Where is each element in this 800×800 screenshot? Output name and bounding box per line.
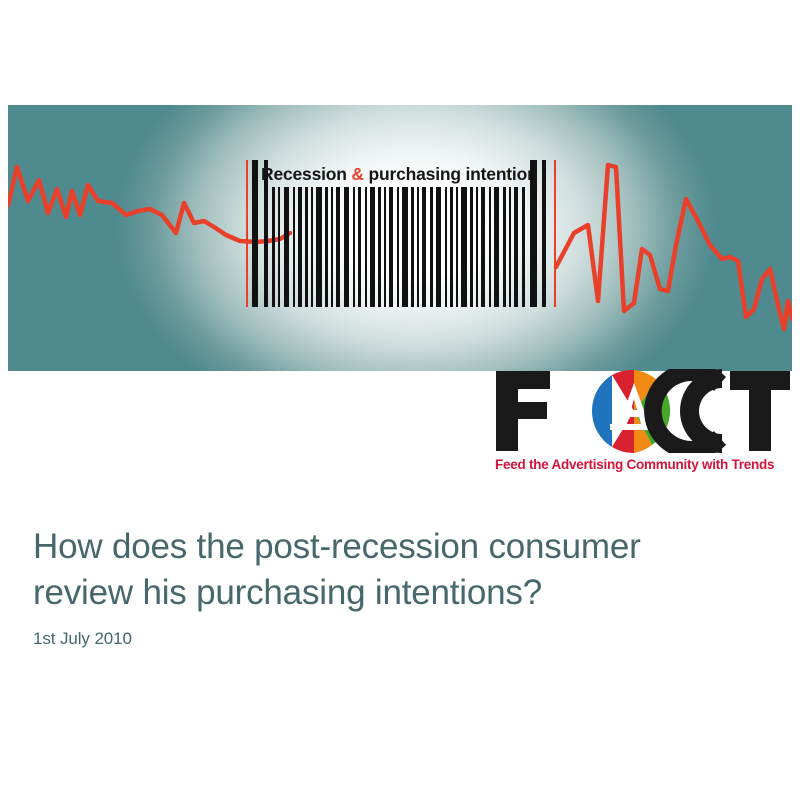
barcode-guard-right-icon [554, 160, 556, 307]
publication-date: 1st July 2010 [33, 628, 132, 650]
barcode-title: Recession & purchasing intention [261, 161, 543, 187]
barcode-title-suffix: purchasing intention [364, 164, 538, 184]
page-title: How does the post-recession consumer rev… [33, 524, 753, 616]
barcode-title-ampersand: & [351, 164, 363, 184]
fact-logo: Feed the Advertising Community with Tren… [492, 369, 792, 479]
barcode-guard-left-icon [246, 160, 248, 307]
fact-logo-letters [492, 369, 792, 453]
barcode-title-prefix: Recession [261, 164, 351, 184]
logo-letter-c [644, 369, 726, 453]
chart-line-right [556, 165, 792, 329]
page-title-line1: How does the post-recession consumer [33, 527, 641, 566]
recession-banner: Recession & purchasing intention [8, 105, 792, 371]
logo-letter-f [496, 371, 550, 451]
barcode-graphic: Recession & purchasing intention [245, 160, 557, 307]
logo-letter-t [730, 371, 790, 451]
fact-logo-tagline: Feed the Advertising Community with Tren… [495, 457, 792, 472]
page-title-line2: review his purchasing intentions? [33, 570, 753, 616]
slide-root: Recession & purchasing intention [0, 0, 800, 800]
